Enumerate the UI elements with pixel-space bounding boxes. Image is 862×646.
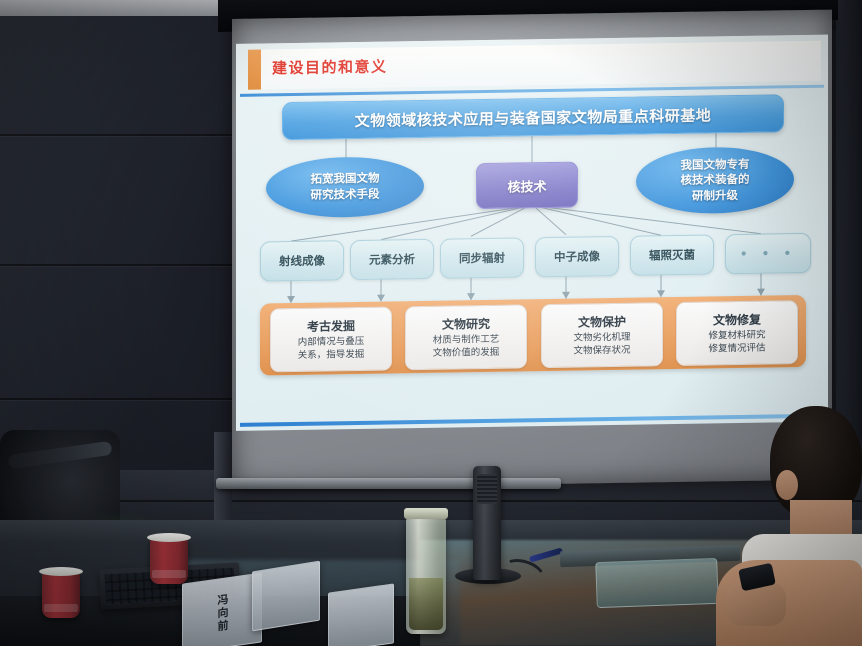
projection-screen: 建设目的和意义 xyxy=(232,10,832,489)
diagram-root-node: 文物领域核技术应用与装备国家文物局重点科研基地 xyxy=(282,94,784,140)
technique-chip-more: • • • xyxy=(725,233,811,274)
tea-jar-lid xyxy=(404,508,448,519)
goal-left-line1: 拓宽我国文物 xyxy=(311,171,380,188)
tea-leaves xyxy=(409,578,443,630)
technique-chip-1: 射线成像 xyxy=(260,240,344,281)
screen-roller-bar xyxy=(216,478,561,489)
card-3-line2: 文物保存状况 xyxy=(573,344,630,358)
application-card-2: 文物研究 材质与制作工艺 文物价值的发掘 xyxy=(405,304,527,370)
ellipsis-icon: • • • xyxy=(740,246,796,261)
technique-chip-2: 元素分析 xyxy=(350,239,434,280)
name-placard-3 xyxy=(328,583,394,646)
card-2-line1: 材质与制作工艺 xyxy=(433,333,500,347)
card-2-line2: 文物价值的发掘 xyxy=(433,346,500,360)
right-wall-edge xyxy=(836,0,862,440)
applications-panel: 考古发掘 内部情况与叠压 关系，指导发掘 文物研究 材质与制作工艺 文物价值的发… xyxy=(260,295,806,376)
goal-right-line1: 我国文物专有 xyxy=(681,157,750,174)
left-wall-panel xyxy=(0,16,243,486)
conference-microphone xyxy=(473,466,501,580)
card-3-title: 文物保护 xyxy=(578,312,626,330)
paper-cup-2 xyxy=(150,538,188,584)
tablet-device xyxy=(595,558,719,608)
paper-cup-1 xyxy=(42,572,80,618)
conference-room-photo: 建设目的和意义 xyxy=(0,0,862,646)
placard-1-name: 冯向前 xyxy=(214,592,230,633)
attendee-hand xyxy=(726,582,786,626)
application-card-4: 文物修复 修复材料研究 修复情况评估 xyxy=(676,300,798,366)
card-1-line1: 内部情况与叠压 xyxy=(298,336,365,350)
card-1-title: 考古发掘 xyxy=(307,317,355,335)
attendee-ear xyxy=(776,470,798,500)
card-4-line2: 修复情况评估 xyxy=(708,342,765,356)
name-placard-2 xyxy=(252,561,320,632)
header-accent-bar xyxy=(248,50,261,90)
presentation-slide: 建设目的和意义 xyxy=(236,35,828,431)
diagram-canvas: 文物领域核技术应用与装备国家文物局重点科研基地 拓宽我国文物 研究技术手段 核技… xyxy=(236,88,828,427)
goal-right-line2: 核技术装备的 xyxy=(681,172,750,189)
diagram-core-node: 核技术 xyxy=(476,162,578,210)
goal-right-line3: 研制升级 xyxy=(692,188,738,204)
microphone-grille xyxy=(477,474,497,504)
application-card-3: 文物保护 文物劣化机理 文物保存状况 xyxy=(541,302,663,368)
tea-jar xyxy=(406,516,446,634)
card-4-line1: 修复材料研究 xyxy=(708,329,765,343)
card-4-title: 文物修复 xyxy=(713,310,761,328)
application-card-1: 考古发掘 内部情况与叠压 关系，指导发掘 xyxy=(270,306,392,372)
slide-title: 建设目的和意义 xyxy=(272,56,388,79)
technique-chip-3: 同步辐射 xyxy=(440,237,524,278)
card-3-line1: 文物劣化机理 xyxy=(573,331,630,345)
card-2-title: 文物研究 xyxy=(442,315,490,333)
technique-chip-5: 辐照灭菌 xyxy=(630,234,714,275)
goal-left-line2: 研究技术手段 xyxy=(311,187,380,204)
technique-chip-4: 中子成像 xyxy=(535,236,619,277)
card-1-line2: 关系，指导发掘 xyxy=(298,348,365,362)
name-placard-1: 冯向前 xyxy=(182,572,262,646)
